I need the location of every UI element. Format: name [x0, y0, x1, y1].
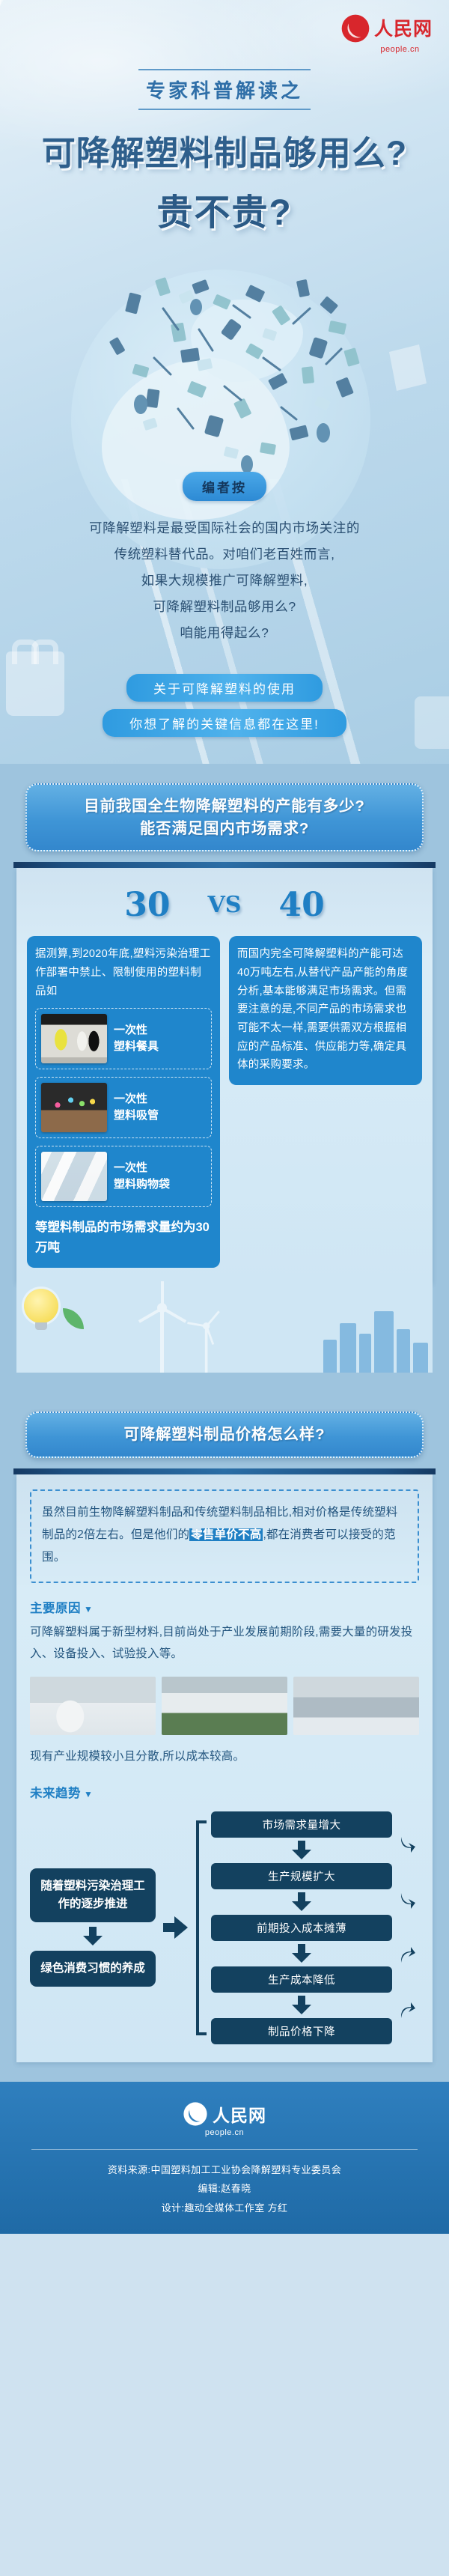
section2-question-band: 可降解塑料制品价格怎么样?	[0, 1392, 449, 1468]
curved-arrow-up-icon	[398, 1890, 418, 1910]
factory-equipment-photo	[162, 1677, 287, 1735]
city-skyline-graphic	[323, 1311, 428, 1373]
section1-right-column: 而国内完全可降解塑料的产能可达40万吨左右,从替代产品产能的角度分析,基本能够满…	[229, 936, 422, 1084]
flow-chain: 市场需求量增大 生产规模扩大 前期投入成本摊薄 生产成本降低 制品价格下降	[211, 1811, 392, 2044]
curved-arrow-down-icon	[398, 1946, 418, 1966]
flow-driver-box-2: 绿色消费习惯的养成	[30, 1951, 156, 1987]
flow-chain-step: 市场需求量增大	[211, 1811, 392, 1838]
section1-left-column: 据测算,到2020年底,塑料污染治理工作部署中禁止、限制使用的塑料制品如 一次性…	[27, 936, 220, 1268]
reason-heading: 主要原因▼	[30, 1598, 419, 1616]
page-title-line1: 可降解塑料制品够用么?	[0, 126, 449, 174]
flow-loop-rail	[196, 1811, 207, 2044]
section1-question-band: 目前我国全生物降解塑料的产能有多少? 能否满足国内市场需求?	[0, 764, 449, 862]
section2-body: 虽然目前生物降解塑料制品和传统塑料制品相比,相对价格是传统塑料制品的2倍左右。但…	[0, 1468, 449, 2082]
editor-note-badge-wrap: 编者按	[0, 472, 449, 501]
editor-note-line: 如果大规模推广可降解塑料,	[39, 568, 410, 594]
infographic-page: 人民网 people.cn 专家科普解读之 可降解塑料制品够用么? 贵不贵? 编…	[0, 0, 449, 2234]
trend-heading-text: 未来趋势	[30, 1787, 81, 1800]
product-label: 一次性塑料吸管	[114, 1091, 159, 1125]
product-label: 一次性塑料购物袋	[114, 1160, 170, 1194]
vs-separator: VS	[208, 892, 242, 918]
hero-pill-2: 你想了解的关键信息都在这里!	[103, 709, 346, 737]
left-column-tail: 等塑料制品的市场需求量约为30万吨	[35, 1218, 212, 1257]
left-column-intro: 据测算,到2020年底,塑料污染治理工作部署中禁止、限制使用的塑料制品如	[35, 945, 212, 1000]
footer-designer: 设计:趣动全媒体工作室 方红	[0, 2199, 449, 2217]
people-daily-logo-icon	[340, 13, 370, 43]
price-summary-box: 虽然目前生物降解塑料制品和传统塑料制品相比,相对价格是传统塑料制品的2倍左右。但…	[30, 1489, 419, 1583]
arrow-down-icon	[83, 1927, 103, 1946]
footer-brand-name: 人民网	[213, 2101, 266, 2127]
page-title-line2: 贵不贵?	[0, 183, 449, 235]
section1-question-line2: 能否满足国内市场需求?	[40, 818, 409, 840]
flow-chain-step: 生产成本降低	[211, 1966, 392, 1993]
footer: 人民网 people.cn 资料来源:中国塑料加工工业协会降解塑料专业委员会 编…	[0, 2082, 449, 2234]
product-item: 一次性塑料餐具	[35, 1008, 212, 1069]
price-highlight: 零售单价不高	[189, 1528, 263, 1541]
section1-question-banner: 目前我国全生物降解塑料的产能有多少? 能否满足国内市场需求?	[25, 783, 424, 851]
curved-arrow-down-icon	[398, 2002, 418, 2021]
trend-heading: 未来趋势▼	[30, 1783, 419, 1801]
vs-right-value: 40	[278, 886, 324, 924]
vs-left-value: 30	[124, 886, 170, 924]
section1-card: 30 VS 40 据测算,到2020年底,塑料污染治理工作部署中禁止、限制使用的…	[16, 868, 433, 1283]
brand-domain: people.cn	[380, 45, 419, 54]
flow-chain-step: 生产规模扩大	[211, 1863, 392, 1889]
eco-illustration-strip	[16, 1283, 433, 1373]
vs-comparison: 30 VS 40	[27, 880, 422, 936]
footer-logo: 人民网	[0, 2101, 449, 2127]
footer-divider	[31, 2149, 418, 2150]
flow-chain-step: 前期投入成本摊薄	[211, 1915, 392, 1941]
product-label: 一次性塑料餐具	[114, 1022, 159, 1056]
future-trend-flowchart: 随着塑料污染治理工作的逐步推进 绿色消费习惯的养成 市场需求量增大 生产规模扩大…	[30, 1811, 419, 2044]
section2-question-banner: 可降解塑料制品价格怎么样?	[25, 1412, 424, 1458]
flow-driver-box-1: 随着塑料污染治理工作的逐步推进	[30, 1868, 156, 1922]
windmill-icon	[144, 1283, 181, 1373]
people-daily-logo-icon	[183, 2101, 208, 2127]
arrow-down-icon	[292, 1996, 311, 2015]
curved-arrow-up-icon	[398, 1834, 418, 1853]
reason-heading-text: 主要原因	[30, 1602, 81, 1615]
editor-note-line: 可降解塑料制品够用么?	[39, 594, 410, 620]
hero-section: 人民网 people.cn 专家科普解读之 可降解塑料制品够用么? 贵不贵? 编…	[0, 0, 449, 764]
arrow-down-icon	[292, 1841, 311, 1860]
footer-editor: 编辑:赵春晓	[0, 2179, 449, 2198]
card-top-rail	[13, 862, 436, 868]
editor-note-line: 可降解塑料是最受国际社会的国内市场关注的	[39, 515, 410, 541]
brand-name: 人民网	[374, 19, 433, 38]
product-item: 一次性塑料吸管	[35, 1077, 212, 1138]
caret-down-icon: ▼	[84, 1789, 93, 1799]
hero-pill-1: 关于可降解塑料的使用	[126, 674, 323, 702]
section1-body: 30 VS 40 据测算,到2020年底,塑料污染治理工作部署中禁止、限制使用的…	[0, 862, 449, 1392]
product-item: 一次性塑料购物袋	[35, 1146, 212, 1207]
arrow-right-icon	[163, 1916, 189, 1939]
disposable-straws-photo	[41, 1083, 107, 1132]
right-column-text: 而国内完全可降解塑料的产能可达40万吨左右,从替代产品产能的角度分析,基本能够满…	[237, 945, 414, 1074]
flow-chain-step: 制品价格下降	[211, 2018, 392, 2044]
people-cn-logo[interactable]: 人民网 people.cn	[340, 13, 433, 54]
section1-columns: 据测算,到2020年底,塑料污染治理工作部署中禁止、限制使用的塑料制品如 一次性…	[27, 936, 422, 1268]
production-line-photo	[293, 1677, 419, 1735]
flow-chain-wrap: 市场需求量增大 生产规模扩大 前期投入成本摊薄 生产成本降低 制品价格下降	[196, 1811, 419, 2044]
windmill-icon-small	[193, 1308, 220, 1373]
section1-question-line1: 目前我国全生物降解塑料的产能有多少?	[40, 795, 409, 818]
lightbulb-icon	[24, 1289, 58, 1323]
editor-note-body: 可降解塑料是最受国际社会的国内市场关注的 传统塑料替代品。对咱们老百姓而言, 如…	[39, 515, 410, 646]
hero-pills: 关于可降解塑料的使用 你想了解的关键信息都在这里!	[0, 674, 449, 744]
section2-question-line1: 可降解塑料制品价格怎么样?	[40, 1424, 409, 1446]
scale-text: 现有产业规模较小且分散,所以成本较高。	[30, 1746, 419, 1767]
kicker-wrap: 专家科普解读之	[0, 69, 449, 110]
caret-down-icon: ▼	[84, 1604, 93, 1614]
leaf-icon	[63, 1308, 84, 1329]
footer-brand-domain: people.cn	[0, 2128, 449, 2137]
section2-card: 虽然目前生物降解塑料制品和传统塑料制品相比,相对价格是传统塑料制品的2倍左右。但…	[16, 1474, 433, 2062]
flow-driver-boxes: 随着塑料污染治理工作的逐步推进 绿色消费习惯的养成	[30, 1868, 156, 1987]
kicker-text: 专家科普解读之	[138, 69, 311, 110]
globe-landmass-secondary	[191, 300, 303, 382]
flow-curved-arrows	[397, 1811, 419, 2044]
arrow-down-icon	[292, 1944, 311, 1963]
footer-source: 资料来源:中国塑料加工工业协会降解塑料专业委员会	[0, 2160, 449, 2179]
disposable-tableware-photo	[41, 1014, 107, 1063]
editor-note-badge: 编者按	[183, 472, 266, 501]
editor-note-line: 咱能用得起么?	[39, 620, 410, 646]
disposable-shopping-bags-photo	[41, 1152, 107, 1201]
industry-photo-row	[30, 1677, 419, 1735]
editor-note-line: 传统塑料替代品。对咱们老百姓而言,	[39, 541, 410, 568]
card-top-rail	[13, 1468, 436, 1474]
reason-text: 可降解塑料属于新型材料,目前尚处于产业发展前期阶段,需要大量的研发投入、设备投入…	[30, 1621, 419, 1665]
lab-research-photo	[30, 1677, 156, 1735]
arrow-down-icon	[292, 1892, 311, 1912]
